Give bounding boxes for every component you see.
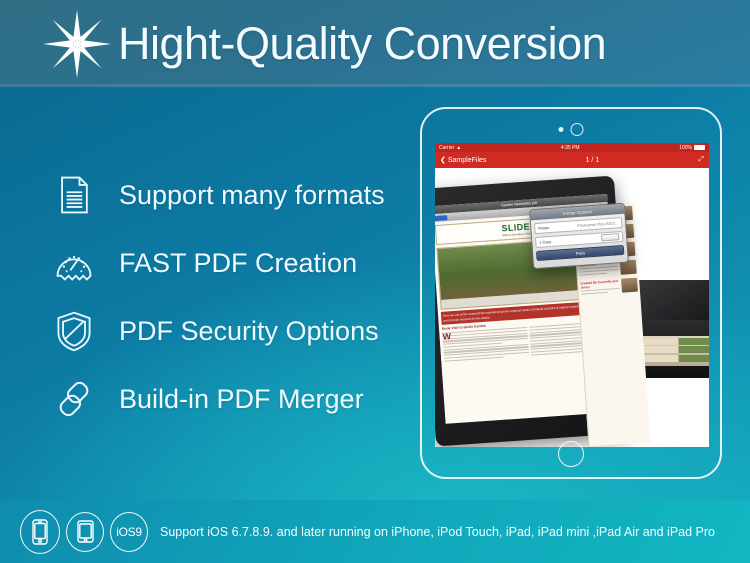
- ipad-screen: Carrier ▲ 4:35 PM 100% ❮ SampleFiles 1 /…: [435, 143, 709, 447]
- expand-icon[interactable]: ⤢: [698, 156, 704, 164]
- feature-label: Build-in PDF Merger: [119, 384, 364, 415]
- clock-label: 4:35 PM: [561, 145, 580, 151]
- ipad-device-frame: Carrier ▲ 4:35 PM 100% ❮ SampleFiles 1 /…: [420, 107, 722, 479]
- status-bar: Carrier ▲ 4:35 PM 100%: [435, 143, 709, 152]
- feature-label: PDF Security Options: [119, 316, 379, 347]
- feature-item-security: PDF Security Options: [52, 297, 385, 365]
- wifi-icon: ▲: [456, 145, 461, 151]
- ios9-label: iOS9: [116, 525, 141, 539]
- speedometer-icon: [52, 241, 96, 285]
- home-button-icon[interactable]: [558, 441, 584, 467]
- support-text: Support iOS 6.7.8.9. and later running o…: [160, 525, 715, 539]
- print-button[interactable]: Print: [536, 245, 624, 261]
- sidebar-thumbnail: [621, 278, 638, 293]
- printer-value: Photosmart Plus B210...: [577, 221, 618, 228]
- starburst-icon: [40, 7, 114, 81]
- feature-item-merger: Build-in PDF Merger: [52, 365, 385, 433]
- battery-percent: 100%: [679, 145, 692, 151]
- carrier-label: Carrier: [439, 145, 454, 151]
- copies-label: 1 Copy: [539, 239, 551, 244]
- feature-label: Support many formats: [119, 180, 385, 211]
- chevron-left-icon: ❮: [440, 156, 446, 164]
- page-footer: iOS9 Support iOS 6.7.8.9. and later runn…: [0, 500, 750, 563]
- feature-label: FAST PDF Creation: [119, 248, 357, 279]
- app-nav-bar: ❮ SampleFiles 1 / 1 ⤢: [435, 152, 709, 168]
- document-lines-icon: [52, 173, 96, 217]
- page-indicator: 1 / 1: [586, 157, 600, 164]
- chain-link-icon: [52, 377, 96, 421]
- ios9-badge: iOS9: [110, 512, 148, 552]
- feature-item-fast-creation: FAST PDF Creation: [52, 229, 385, 297]
- printer-label: Printer: [538, 226, 549, 231]
- app-content-screenshot: Garden Newsletter.pdf SLIDE R "Where the…: [435, 168, 709, 447]
- shield-icon: [52, 309, 96, 353]
- iphone-icon: [20, 510, 60, 554]
- back-button[interactable]: ❮ SampleFiles: [440, 156, 486, 164]
- main-stage: Support many formats FAST PDF Creation: [0, 87, 750, 500]
- copies-stepper[interactable]: [601, 233, 619, 241]
- back-label: SampleFiles: [448, 157, 487, 164]
- battery-full-icon: [694, 145, 705, 150]
- feature-item-formats: Support many formats: [52, 161, 385, 229]
- page-header: Hight-Quality Conversion: [0, 0, 750, 87]
- newsletter-column: W: [442, 327, 528, 363]
- sidebar-entry: Created By Connelly and Jenny: [580, 278, 638, 297]
- front-camera-icon: [559, 123, 584, 136]
- page-title: Hight-Quality Conversion: [118, 18, 606, 70]
- platform-badges: iOS9: [20, 510, 148, 554]
- ipad-icon: [66, 512, 104, 552]
- feature-list: Support many formats FAST PDF Creation: [52, 161, 385, 433]
- printer-options-dialog: Printer Options Printer Photosmart Plus …: [529, 203, 629, 270]
- done-button[interactable]: [435, 215, 447, 221]
